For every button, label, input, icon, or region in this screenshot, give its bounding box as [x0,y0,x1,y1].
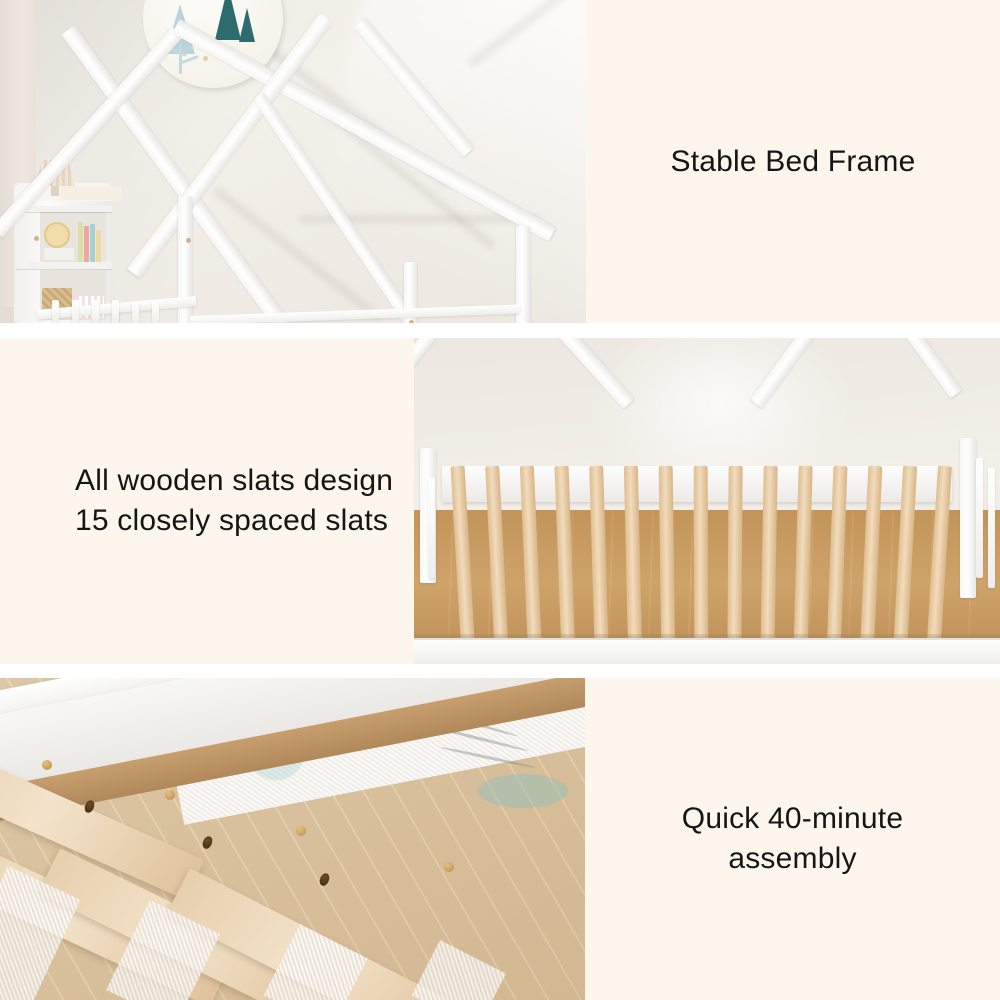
caption-line: 15 closely spaced slats [75,501,393,541]
wooden-slats-bed-base-photo [414,338,1000,664]
caption-line: assembly [682,839,903,879]
dowel-peg [296,826,306,836]
slat [760,466,777,656]
bookshelf-shelf [16,262,112,269]
slat [624,466,642,656]
slat [827,466,848,656]
panel-divider [0,664,1000,678]
picket [72,300,79,323]
branch-icon [181,55,199,64]
caption-line: All wooden slats design [75,461,393,501]
caption-text: All wooden slats design 15 closely space… [75,461,393,541]
panel-divider [0,323,1000,338]
clock-icon [44,222,70,248]
decor-dot [203,56,208,61]
folded-bedding [60,186,122,200]
slat [589,466,609,656]
slat [659,466,676,656]
branch-icon [179,44,182,74]
slat-deck [442,466,952,656]
picket [152,302,159,323]
side-picket [988,468,995,588]
slat [727,466,742,656]
bed-foot-rail-shadow [414,634,1000,640]
dowel-peg [444,862,454,872]
dowel-peg [186,238,191,243]
corner-post-right [960,438,976,598]
slat [893,466,917,656]
slat [485,466,509,656]
picket [92,300,99,323]
feature-panel-quick-assembly: Quick 40-minute assembly [0,678,1000,1000]
slat [555,466,576,656]
bookshelf-shelf [16,206,112,212]
feature-panel-stable-bed-frame: Stable Bed Frame [0,0,1000,323]
tree-icon [239,8,255,42]
slat [860,466,883,656]
dowel-peg [165,790,175,800]
product-feature-collage: Stable Bed Frame All wooden slats design… [0,0,1000,1000]
book [84,226,89,262]
dowel-peg [42,760,52,770]
tree-icon [215,0,241,40]
folded-linen [44,254,74,260]
feature-panel-wooden-slats: All wooden slats design 15 closely space… [0,338,1000,664]
slat [451,466,476,656]
side-picket [428,478,435,578]
picket [52,300,59,323]
slat [694,466,709,656]
caption-text: Quick 40-minute assembly [682,799,903,879]
caption-quick-assembly: Quick 40-minute assembly [585,678,1000,1000]
caption-line: Quick 40-minute [682,799,903,839]
caption-text: Stable Bed Frame [671,142,916,182]
slat [926,466,952,657]
dowel-peg [34,236,39,241]
table-lamp-base [51,186,59,196]
caption-stable-bed-frame: Stable Bed Frame [586,0,1000,323]
side-picket [976,458,983,578]
book [96,230,101,262]
book [90,224,95,262]
book [78,222,83,262]
slat-assembly-closeup-photo [0,678,585,1000]
slat [793,466,812,656]
slat [520,466,542,656]
caption-wooden-slats: All wooden slats design 15 closely space… [0,338,414,664]
rug-motif-sprig [478,774,568,808]
bed-foot-rail [414,638,1000,664]
picket [132,301,139,323]
house-frame-bed-in-nursery-photo [0,0,586,323]
caption-line: Stable Bed Frame [671,142,916,182]
picket [112,300,119,323]
